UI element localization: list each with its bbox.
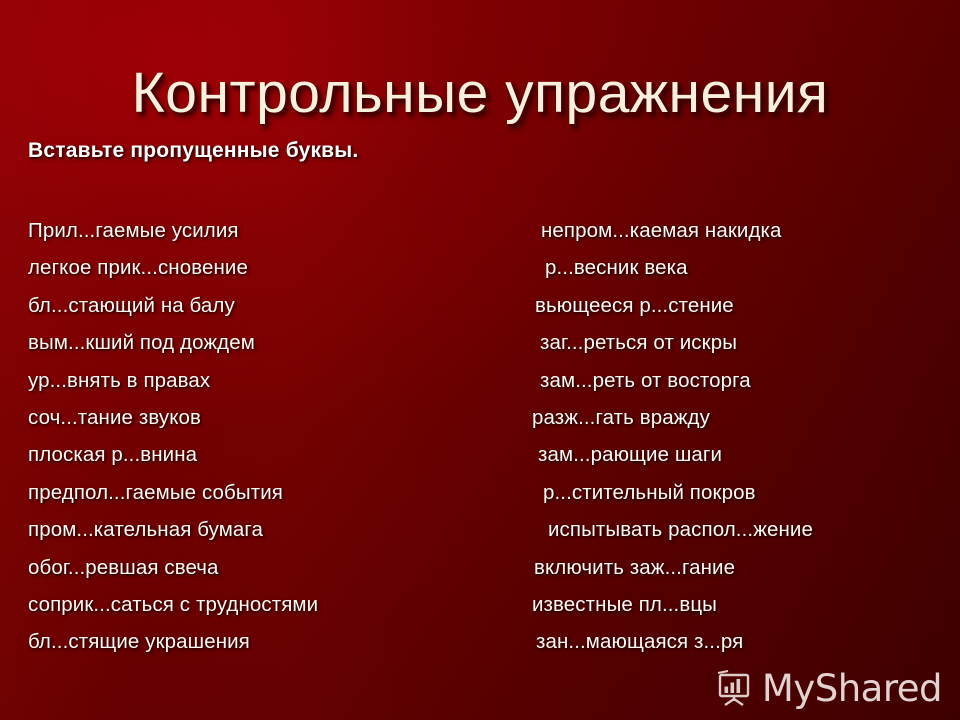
exercise-item: включить заж...гание [520,553,950,590]
exercise-item: бл...стящие украшения [28,627,498,664]
exercise-item: легкое прик...сновение [28,253,498,290]
exercise-column-right: непром...каемая накидка р...весник века … [520,216,950,665]
exercise-item: бл...стающий на балу [28,291,498,328]
exercise-item: предпол...гаемые события [28,478,498,515]
exercise-item: непром...каемая накидка [520,216,950,253]
exercise-item: вым...кший под дождем [28,328,498,365]
exercise-item: вьющееся р...стение [520,291,950,328]
myshared-watermark[interactable]: MyShared [716,670,942,708]
exercise-item: Прил...гаемые усилия [28,216,498,253]
exercise-item: р...весник века [520,253,950,290]
exercise-column-left: Прил...гаемые усилия легкое прик...снове… [28,216,498,665]
exercise-item: заг...реться от искры [520,328,950,365]
exercise-item: известные пл...вцы [520,590,950,627]
exercise-item: зам...реть от восторга [520,366,950,403]
exercise-item: соч...тание звуков [28,403,498,440]
exercise-item: р...стительный покров [520,478,950,515]
exercise-item: соприк...саться с трудностями [28,590,498,627]
instruction-text: Вставьте пропущенные буквы. [28,139,358,163]
exercise-item: ур...внять в правах [28,366,498,403]
exercise-item: зам...рающие шаги [520,440,950,477]
page-title: Контрольные упражнения [0,64,960,124]
exercise-item: плоская р...внина [28,440,498,477]
exercise-item: зан...мающаяся з...ря [520,627,950,664]
slide-canvas: Контрольные упражнения Вставьте пропущен… [0,0,960,720]
exercise-item: обог...ревшая свеча [28,553,498,590]
exercise-item: пром...кательная бумага [28,515,498,552]
exercise-item: разж...гать вражду [520,403,950,440]
myshared-label: MyShared [762,670,942,708]
presentation-chart-icon [716,670,754,708]
exercise-item: испытывать распол...жение [520,515,950,552]
